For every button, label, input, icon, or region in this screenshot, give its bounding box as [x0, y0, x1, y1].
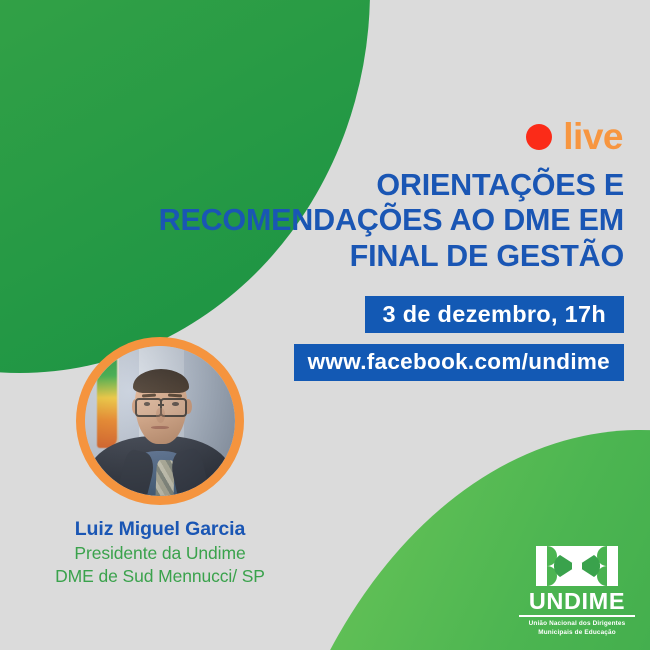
speaker-caption: Luiz Miguel Garcia Presidente da Undime …: [0, 517, 320, 589]
undime-logo: UNDIME União Nacional dos Dirigentes Mun…: [519, 546, 635, 638]
live-badge: live: [526, 118, 623, 155]
undime-tagline: União Nacional dos Dirigentes Municipais…: [519, 620, 635, 638]
undime-bowtie-icon: [536, 546, 618, 586]
event-url-badge[interactable]: www.facebook.com/undime: [294, 344, 624, 380]
photo-vignette: [85, 346, 235, 496]
live-dot-icon: [526, 124, 552, 150]
undime-tagline-line-2: Municipais de Educação: [519, 629, 635, 638]
page-title-line-3: FINAL DE GESTÃO: [64, 239, 624, 274]
speaker-org: DME de Sud Mennucci/ SP: [0, 565, 320, 588]
event-date-badge: 3 de dezembro, 17h: [365, 296, 625, 333]
speaker-role: Presidente da Undime: [0, 542, 320, 565]
speaker-name: Luiz Miguel Garcia: [0, 517, 320, 542]
undime-tagline-line-1: União Nacional dos Dirigentes: [519, 620, 635, 629]
live-label: live: [563, 118, 623, 155]
page-title-line-1: ORIENTAÇÕES E: [64, 168, 624, 203]
avatar-photo: [85, 346, 235, 496]
avatar: [76, 337, 244, 505]
page-title: ORIENTAÇÕES E RECOMENDAÇÕES AO DME EM FI…: [64, 168, 624, 274]
undime-wordmark: UNDIME: [519, 590, 635, 618]
page-title-line-2: RECOMENDAÇÕES AO DME EM: [64, 203, 624, 238]
event-poster: live ORIENTAÇÕES E RECOMENDAÇÕES AO DME …: [0, 0, 650, 650]
